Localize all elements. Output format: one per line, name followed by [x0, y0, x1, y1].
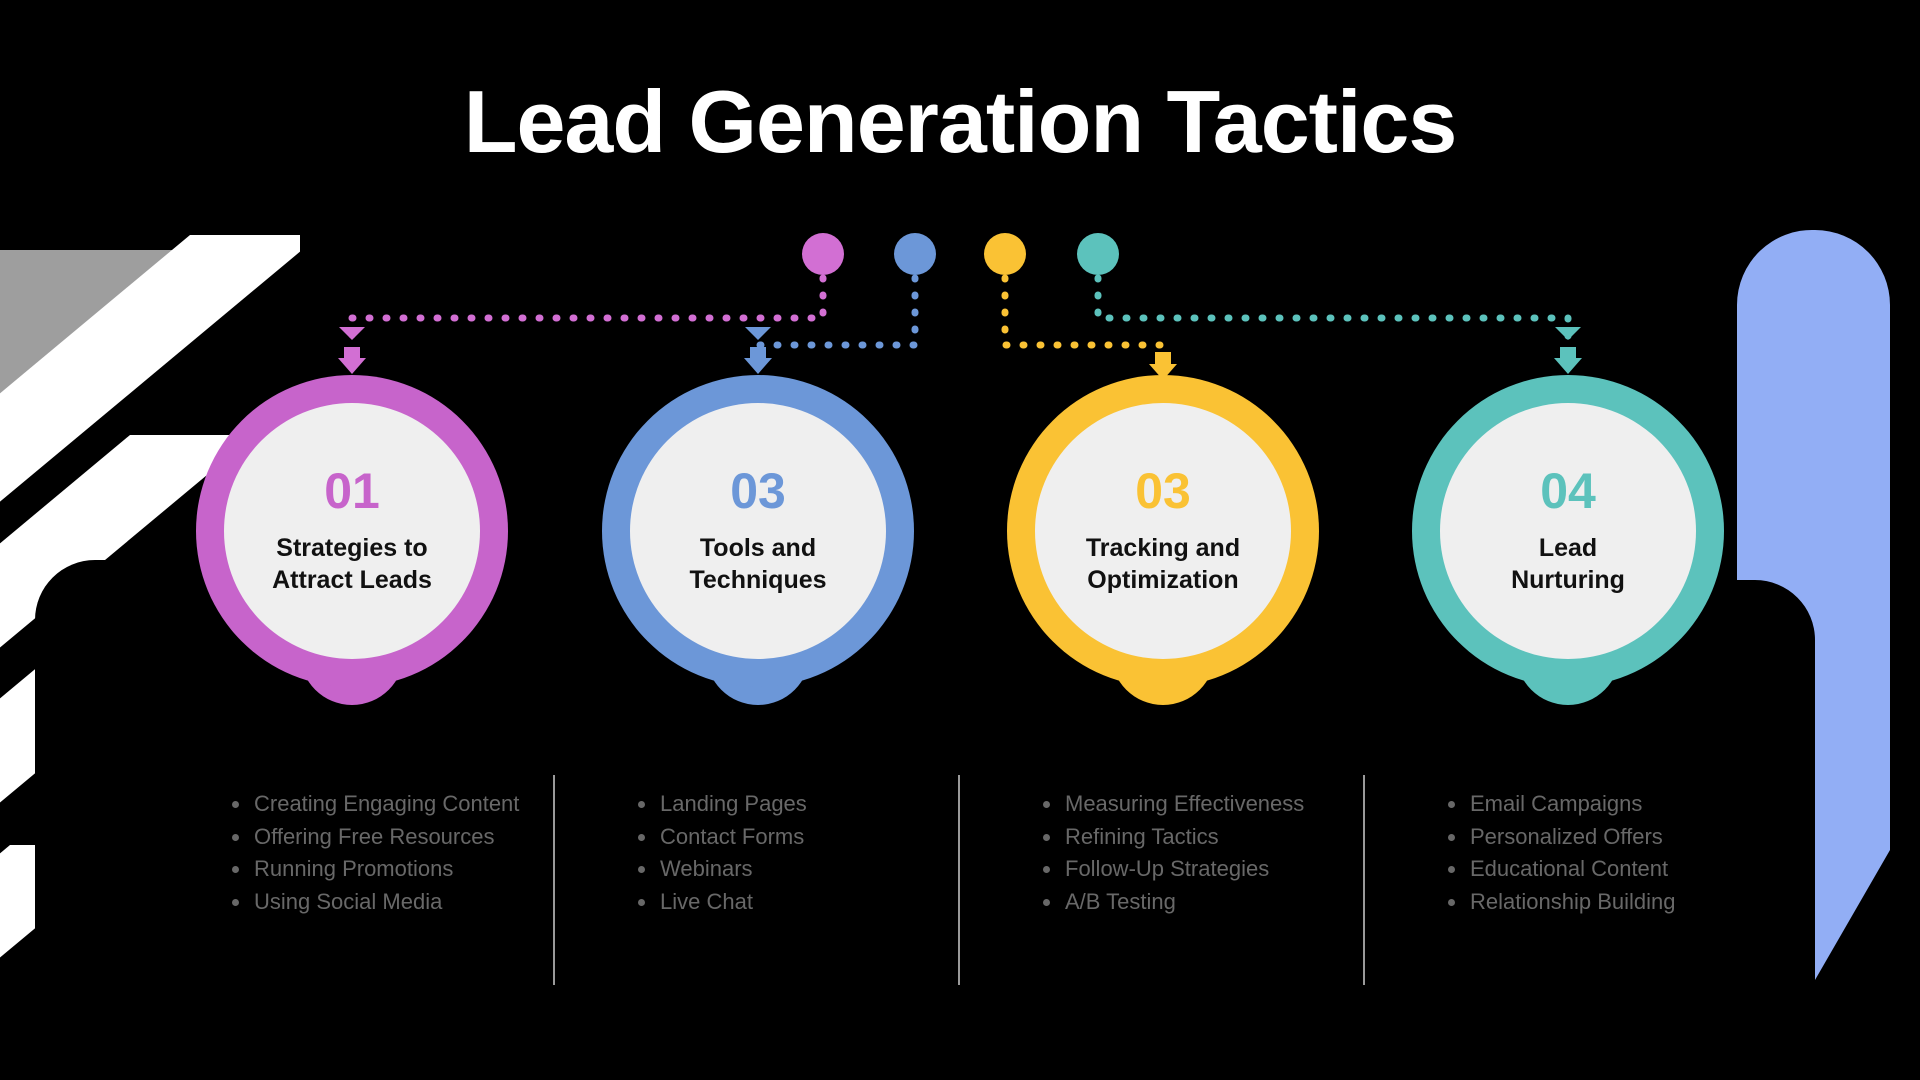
node-4-caption: LeadNurturing [1485, 532, 1651, 596]
page-title: Lead Generation Tactics [0, 78, 1920, 166]
node-3-number: 03 [1135, 466, 1191, 516]
node-4-number: 04 [1540, 466, 1596, 516]
node-3[interactable]: 03 Tracking andOptimization [1007, 375, 1319, 687]
node-1-disc: 01 Strategies toAttract Leads [224, 403, 480, 659]
connector-dot-3 [984, 233, 1026, 275]
bullet-column-2: Landing PagesContact FormsWebinarsLive C… [634, 790, 934, 920]
connector-4 [1077, 233, 1582, 374]
bullet-list-1: Creating Engaging ContentOffering Free R… [228, 790, 528, 916]
bullet-list-4: Email CampaignsPersonalized OffersEducat… [1444, 790, 1744, 916]
list-item: Using Social Media [228, 888, 528, 917]
bullet-list-2: Landing PagesContact FormsWebinarsLive C… [634, 790, 934, 916]
bullet-column-1: Creating Engaging ContentOffering Free R… [228, 790, 528, 920]
node-2-disc: 03 Tools andTechniques [630, 403, 886, 659]
list-item: Personalized Offers [1444, 823, 1744, 852]
node-2[interactable]: 03 Tools andTechniques [602, 375, 914, 687]
node-1-caption: Strategies toAttract Leads [246, 532, 458, 596]
node-3-disc: 03 Tracking andOptimization [1035, 403, 1291, 659]
node-1-number: 01 [324, 466, 380, 516]
node-1[interactable]: 01 Strategies toAttract Leads [196, 375, 508, 687]
list-item: Email Campaigns [1444, 790, 1744, 819]
list-item: Webinars [634, 855, 934, 884]
column-divider-2 [958, 775, 960, 985]
list-item: Refining Tactics [1039, 823, 1339, 852]
connector-dot-2 [894, 233, 936, 275]
list-item: Relationship Building [1444, 888, 1744, 917]
list-item: Creating Engaging Content [228, 790, 528, 819]
list-item: Offering Free Resources [228, 823, 528, 852]
connector-dot-1 [802, 233, 844, 275]
list-item: A/B Testing [1039, 888, 1339, 917]
bullet-column-3: Measuring EffectivenessRefining TacticsF… [1039, 790, 1339, 920]
connector-dot-4 [1077, 233, 1119, 275]
node-2-number: 03 [730, 466, 786, 516]
node-3-caption: Tracking andOptimization [1060, 532, 1266, 596]
connector-1 [338, 233, 844, 374]
list-item: Follow-Up Strategies [1039, 855, 1339, 884]
list-item: Contact Forms [634, 823, 934, 852]
node-4[interactable]: 04 LeadNurturing [1412, 375, 1724, 687]
infographic-canvas: Lead Generation Tactics [0, 0, 1920, 1080]
list-item: Measuring Effectiveness [1039, 790, 1339, 819]
column-divider-1 [553, 775, 555, 985]
bullet-list-3: Measuring EffectivenessRefining TacticsF… [1039, 790, 1339, 916]
node-4-disc: 04 LeadNurturing [1440, 403, 1696, 659]
list-item: Landing Pages [634, 790, 934, 819]
column-divider-3 [1363, 775, 1365, 985]
bullet-column-4: Email CampaignsPersonalized OffersEducat… [1444, 790, 1744, 920]
list-item: Educational Content [1444, 855, 1744, 884]
list-item: Live Chat [634, 888, 934, 917]
node-2-caption: Tools andTechniques [663, 532, 852, 596]
list-item: Running Promotions [228, 855, 528, 884]
